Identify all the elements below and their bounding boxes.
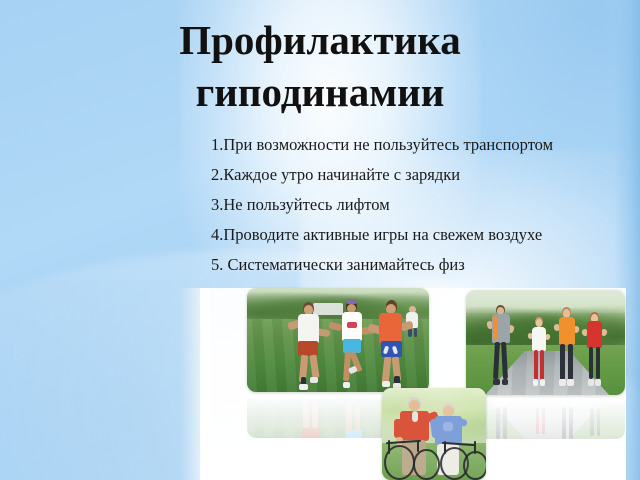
jogger-mother — [553, 307, 580, 390]
page-title: Профилактика гиподинамии — [0, 14, 640, 118]
title-line-1: Профилактика — [0, 14, 640, 66]
presentation-slide: Профилактика гиподинамии 1.При возможнос… — [0, 0, 640, 480]
runner-person — [331, 299, 375, 391]
list-item: 4.Проводите активные игры на свежем возд… — [211, 224, 563, 245]
list-item: 1.При возможности не пользуйтесь транспо… — [211, 134, 563, 155]
jogger-child-red — [582, 312, 607, 389]
family-jogging-photo-reflection — [466, 395, 625, 439]
jogger-father — [487, 305, 516, 389]
list-item: 5. Систематически занимайтесь физ — [211, 254, 563, 275]
teens-running-photo — [247, 288, 429, 392]
elderly-couple-bicycles-photo — [382, 388, 486, 480]
title-line-2: гиподинамии — [0, 66, 640, 118]
list-item: 2.Каждое утро начинайте с зарядки — [211, 164, 563, 185]
family-jogging-photo — [466, 290, 625, 395]
runner-person — [287, 302, 331, 391]
jogger-child-white — [528, 317, 550, 388]
bicycles — [382, 388, 486, 480]
runner-person — [371, 300, 415, 390]
list-item: 3.Не пользуйтесь лифтом — [211, 194, 563, 215]
recommendations-list: 1.При возможности не пользуйтесь транспо… — [211, 134, 563, 275]
